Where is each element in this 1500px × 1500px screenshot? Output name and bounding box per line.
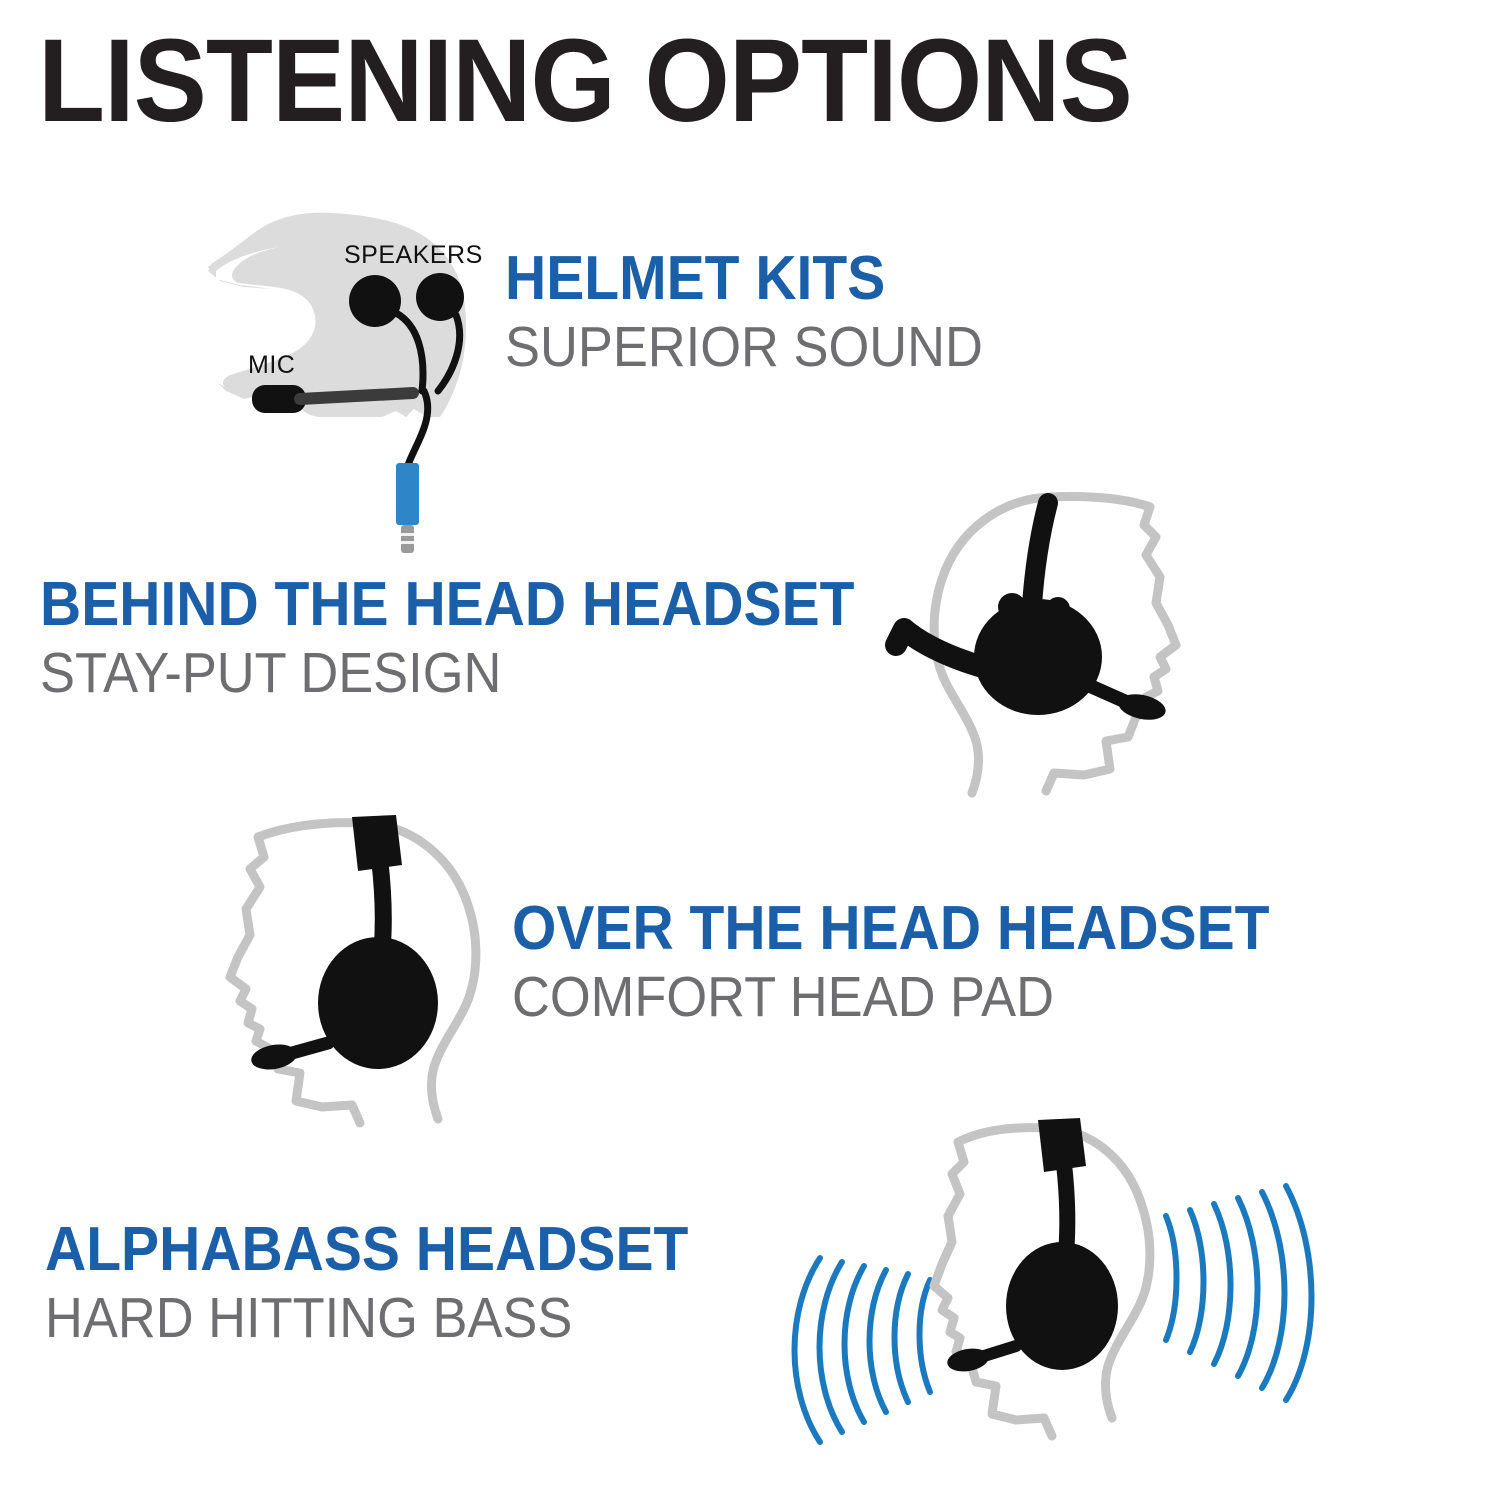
ear-cup-pivot-left (998, 593, 1026, 621)
soundwave-arc (895, 1274, 909, 1402)
alphabass-headset-svg (780, 1110, 1330, 1500)
mic-boom-arm (292, 1043, 328, 1053)
ear-cup-pivot-right (1046, 597, 1070, 621)
soundwave-right-group (1166, 1186, 1312, 1400)
headband-arm (1064, 1164, 1067, 1254)
soundwave-left-group (795, 1258, 931, 1442)
helmet-kit-svg: SPEAKERS MIC (200, 195, 520, 555)
option-subtitle-alphabass-headset: HARD HITTING BASS (45, 1289, 688, 1349)
option-text-behind-the-head-headset: BEHIND THE HEAD HEADSET STAY-PUT DESIGN (40, 573, 925, 704)
over-the-head-headset-illustration (200, 805, 550, 1150)
option-text-over-the-head-headset: OVER THE HEAD HEADSET COMFORT HEAD PAD (512, 897, 1335, 1028)
speaker-left-icon (349, 275, 401, 327)
option-text-alphabass-headset: ALPHABASS HEADSET HARD HITTING BASS (45, 1218, 744, 1349)
soundwave-arc (1238, 1198, 1258, 1376)
behind-the-head-headset-illustration (860, 485, 1230, 825)
soundwave-arc (1190, 1210, 1204, 1352)
soundwave-arc (1214, 1204, 1231, 1364)
audio-plug-ring-1 (401, 533, 414, 536)
soundwave-arc (1286, 1186, 1312, 1400)
audio-plug-body (396, 463, 419, 525)
soundwave-arc (1262, 1192, 1285, 1388)
ear-cup-shape (318, 937, 438, 1069)
option-subtitle-behind-the-head-headset: STAY-PUT DESIGN (40, 644, 854, 704)
soundwave-arc (870, 1270, 887, 1412)
alphabass-headset-illustration (780, 1110, 1330, 1500)
option-heading-alphabass-headset: ALPHABASS HEADSET (45, 1218, 688, 1281)
speakers-label: SPEAKERS (344, 241, 483, 269)
soundwave-arc (1166, 1216, 1177, 1340)
ear-cup-shape (1006, 1242, 1118, 1370)
mic-boom-cable (300, 393, 413, 399)
over-the-head-headset-svg (200, 805, 550, 1150)
mic-boom-arm (1088, 685, 1124, 701)
page-title: LISTENING OPTIONS (38, 22, 1132, 140)
soundwave-arc (795, 1258, 821, 1442)
ear-cup-shape (974, 599, 1102, 715)
option-text-helmet-kits: HELMET KITS SUPERIOR SOUND (505, 247, 1024, 378)
soundwave-arc (820, 1262, 843, 1432)
helmet-kit-illustration: SPEAKERS MIC (200, 195, 520, 555)
headset-top-strap (1032, 503, 1048, 605)
option-heading-helmet-kits: HELMET KITS (505, 247, 983, 310)
option-heading-behind-the-head-headset: BEHIND THE HEAD HEADSET (40, 573, 854, 636)
option-heading-over-the-head-headset: OVER THE HEAD HEADSET (512, 897, 1269, 960)
option-subtitle-over-the-head-headset: COMFORT HEAD PAD (512, 968, 1269, 1028)
audio-plug-ring-2 (401, 541, 414, 544)
soundwave-arc (920, 1280, 931, 1392)
mic-boom-arm (984, 1346, 1016, 1356)
soundwave-arc (845, 1266, 865, 1422)
audio-plug-tip (401, 525, 414, 553)
behind-the-head-headset-svg (860, 485, 1230, 825)
mic-label: MIC (248, 351, 295, 379)
infographic-page: LISTENING OPTIONS SPEAKERS MIC (0, 0, 1500, 1500)
option-subtitle-helmet-kits: SUPERIOR SOUND (505, 318, 983, 378)
